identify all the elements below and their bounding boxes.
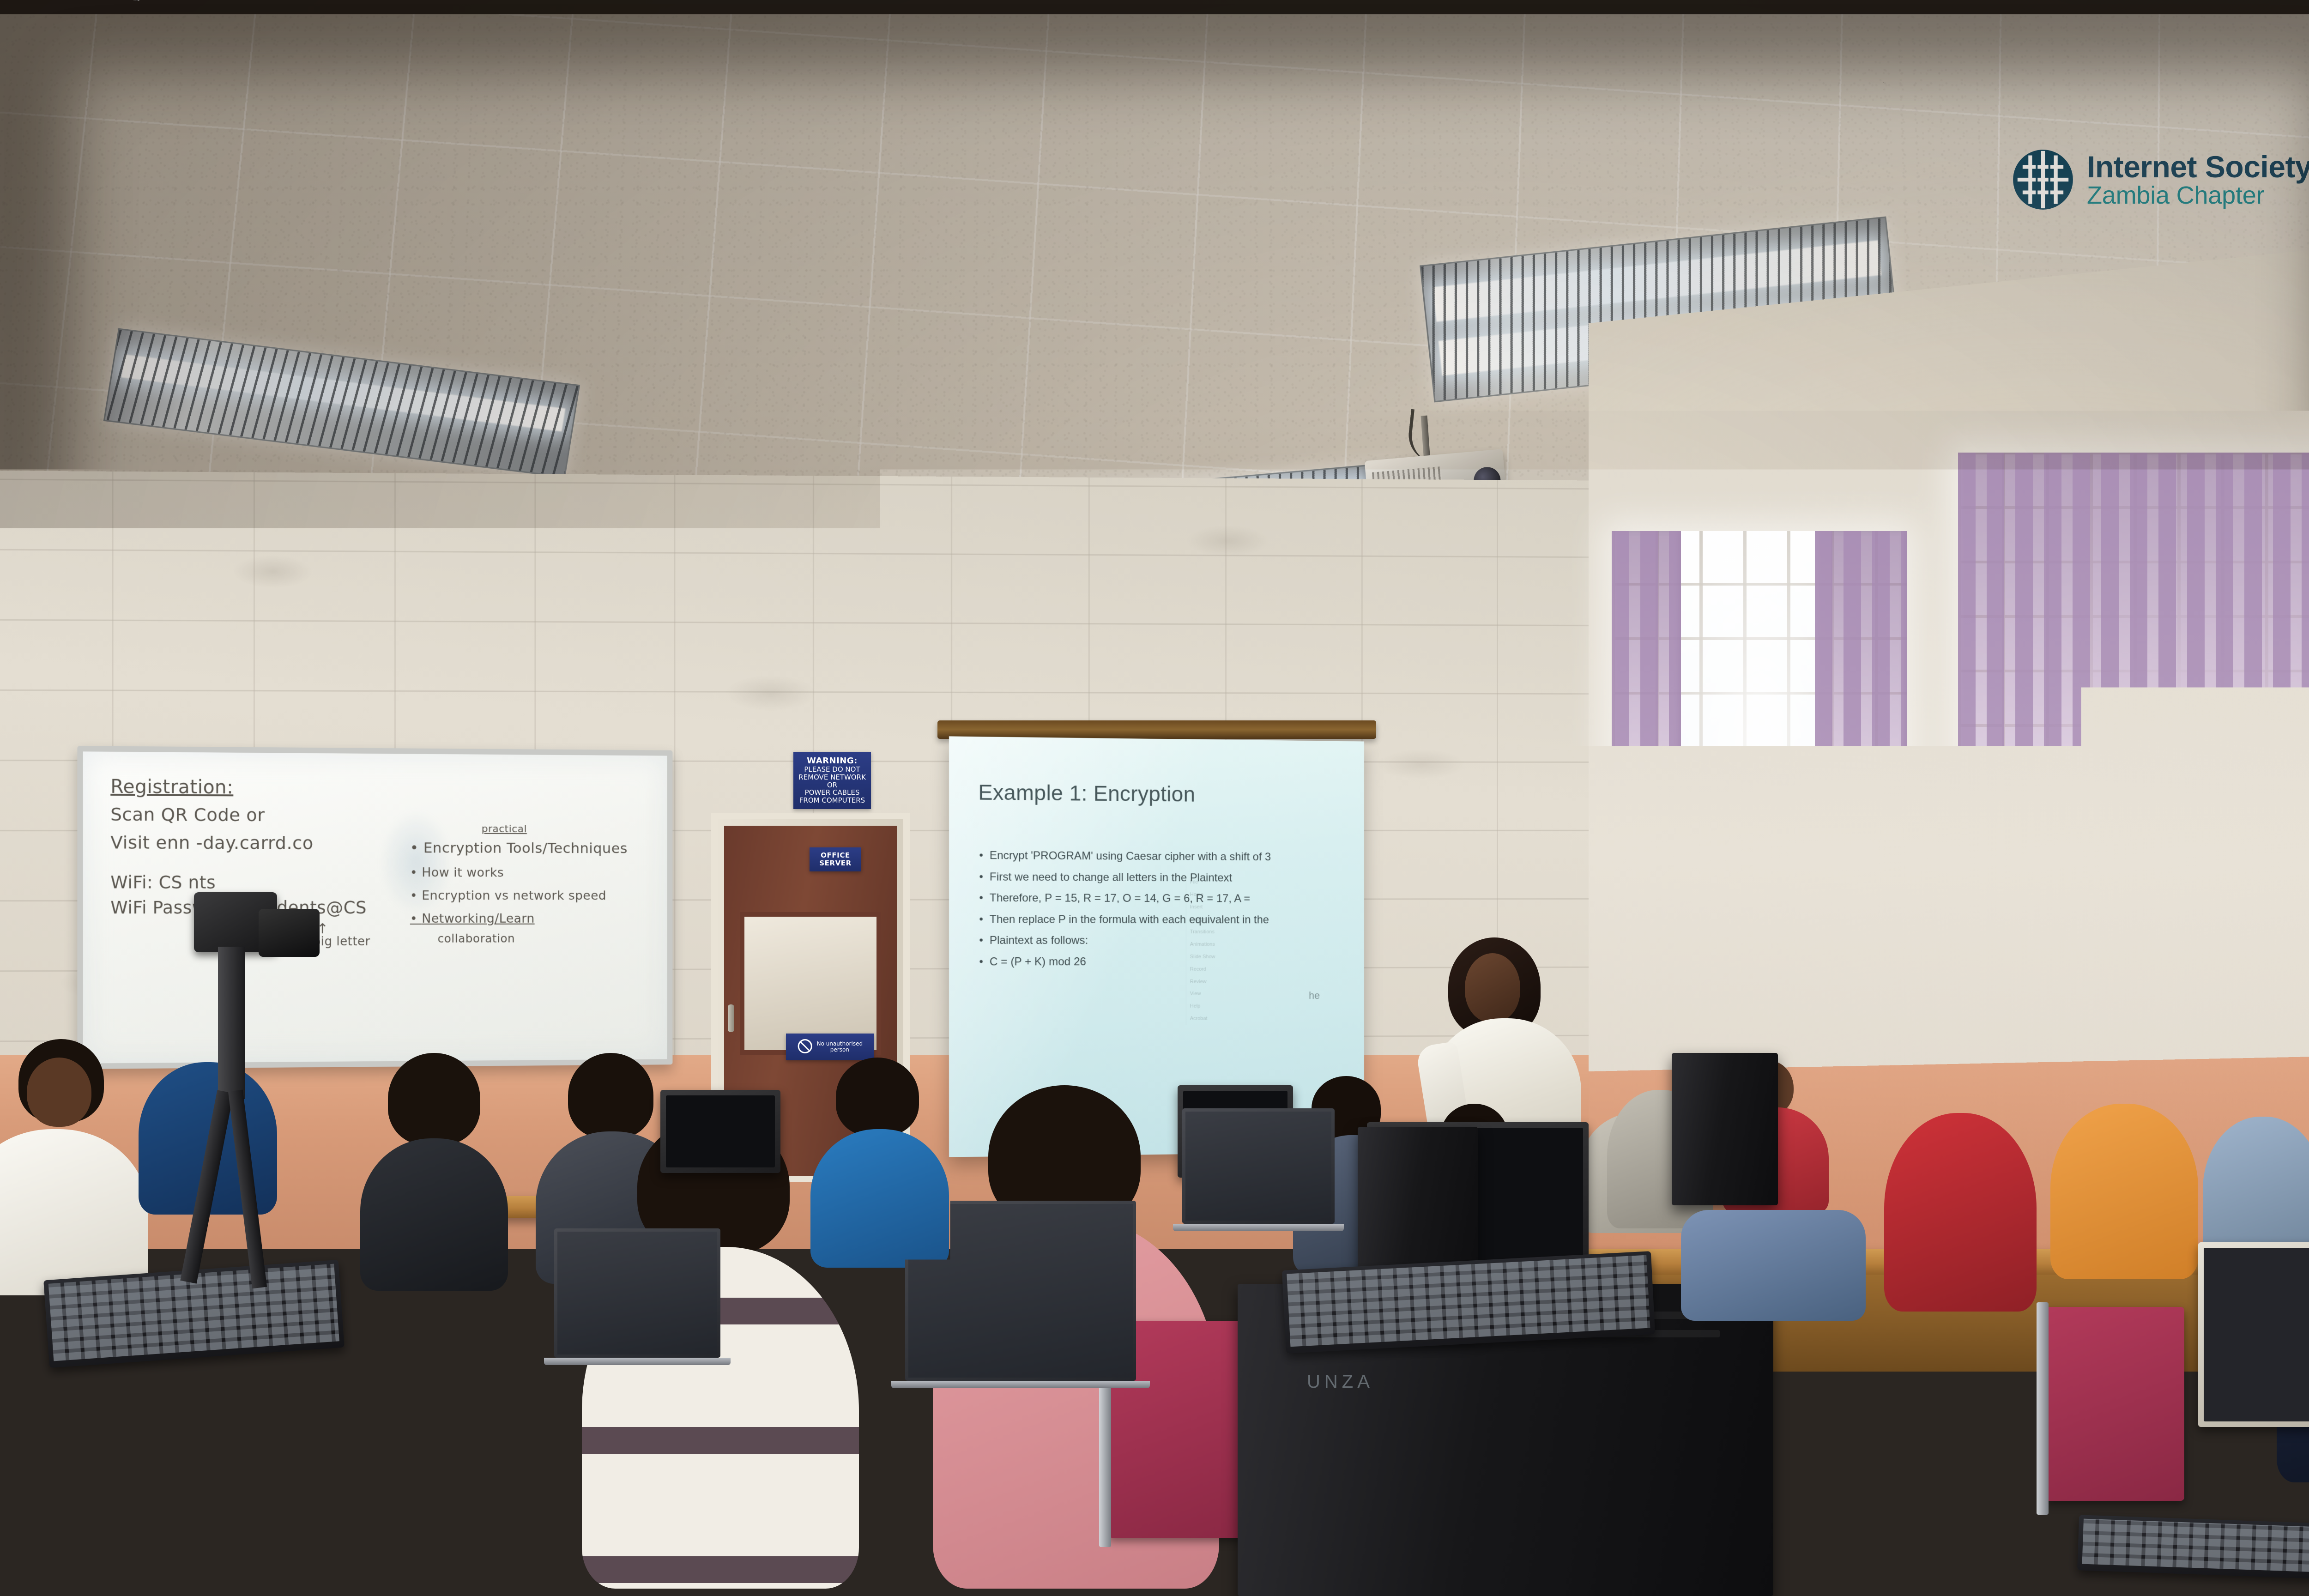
door-handle[interactable]	[728, 1004, 734, 1032]
pc-tower	[42, 1358, 328, 1596]
monitor	[660, 1090, 780, 1173]
slide-bullet: Then replace P in the formula with each …	[978, 909, 1346, 931]
tower-brand-label: UNZA	[1307, 1372, 1374, 1392]
fire-extinguisher-sign: 🧯	[1626, 875, 1661, 920]
whiteboard-line: Visit enn -day.carrd.co	[110, 832, 313, 853]
whiteboard-heading: Registration:	[110, 776, 233, 798]
backpack	[1681, 1210, 1866, 1321]
no-pedestrian-icon: 🛇	[797, 1039, 813, 1055]
whiteboard-bullet: How it works	[410, 865, 504, 880]
window-right	[1958, 453, 2309, 1108]
logo-line-2: Zambia Chapter	[2087, 182, 2309, 208]
laptop[interactable]	[554, 1228, 720, 1358]
globe-grid-icon	[2011, 148, 2075, 212]
whiteboard: Registration: Scan QR Code or Visit enn …	[77, 746, 672, 1069]
projection-screen: Example 1: Encryption Encrypt 'PROGRAM' …	[949, 736, 1364, 1157]
keyboard[interactable]	[2077, 1515, 2309, 1579]
camera-lens-icon	[259, 909, 320, 957]
slide-bullet-continuation: Plaintext as follows:	[978, 930, 1346, 951]
chair-frame	[2037, 1302, 2049, 1515]
whiteboard-bullet: Encryption Tools/Techniques	[410, 840, 628, 857]
warning-sign: WARNING: PLEASE DO NOT REMOVE NETWORK OR…	[793, 752, 871, 809]
whiteboard-bullet: Encryption vs network speed	[410, 889, 606, 903]
laptop[interactable]	[905, 1201, 1136, 1381]
classroom-photo: Internet Society Zambia Chapter Registra…	[0, 0, 2309, 1596]
window-curtain	[1958, 453, 2309, 1108]
whiteboard-bullet: Networking/Learn	[410, 912, 535, 926]
whiteboard-line: WiFi: CS nts	[110, 872, 216, 893]
slide-bullet: Therefore, P = 15, R = 17, O = 14, G = 6…	[978, 888, 1346, 910]
no-unauthorised-person-sign: 🛇 No unauthorised person	[786, 1034, 874, 1060]
pc-tower	[1672, 1053, 1778, 1205]
whiteboard-line: Scan QR Code or	[110, 804, 265, 825]
office-server-sign: OFFICE SERVER	[810, 847, 861, 871]
slide-title: Example 1: Encryption	[978, 780, 1346, 808]
window-left	[1612, 531, 1907, 1076]
slide-ghost-menu: File Home Insert Design Transitions Anim…	[1186, 876, 1287, 1025]
presenter-head	[1465, 953, 1520, 1022]
monitor	[2198, 1242, 2309, 1427]
whiteboard-subheading: practical	[482, 823, 527, 835]
projection-screen-housing	[937, 720, 1376, 739]
fire-extinguisher-icon: 🧯	[1627, 884, 1660, 910]
chair[interactable]	[2046, 1307, 2184, 1501]
slide-bullet: First we need to change all letters in t…	[978, 866, 1346, 889]
slide-bullet: Encrypt 'PROGRAM' using Caesar cipher wi…	[978, 845, 1346, 868]
laptop[interactable]	[1182, 1108, 1335, 1224]
slide-ghost-text: he	[1309, 990, 1320, 1002]
internet-society-logo: Internet Society Zambia Chapter	[2011, 148, 2309, 212]
warning-heading: WARNING:	[807, 756, 858, 766]
slide-bullet: C = (P + K) mod 26	[978, 951, 1346, 973]
tripod-column	[218, 947, 245, 1099]
whiteboard-bullet: collaboration	[438, 932, 515, 945]
presentation-slide: Example 1: Encryption Encrypt 'PROGRAM' …	[978, 780, 1346, 1138]
logo-line-1: Internet Society	[2087, 151, 2309, 183]
